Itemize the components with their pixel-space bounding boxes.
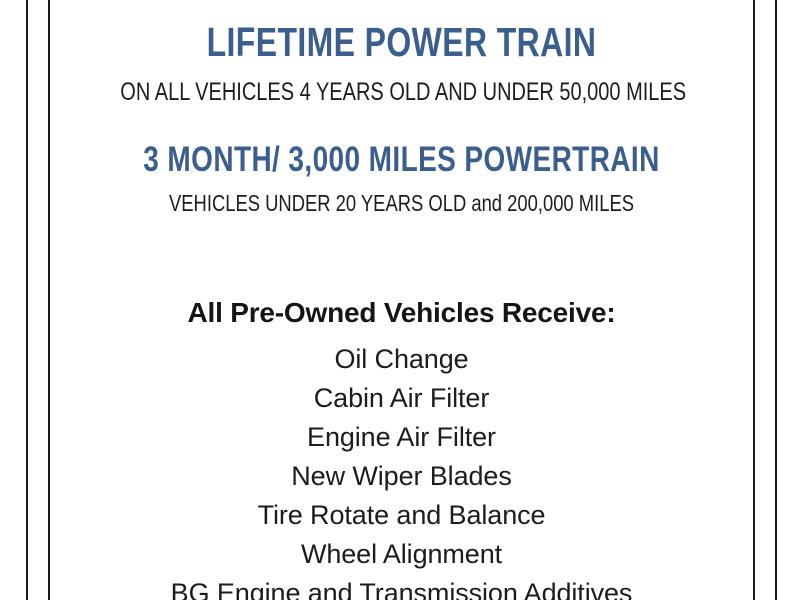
border-rule-right-outer	[775, 0, 777, 600]
service-item: Engine Air Filter	[50, 418, 753, 457]
service-item: Oil Change	[50, 340, 753, 379]
promo-title-lifetime-powertrain: LIFETIME POWER TRAIN	[127, 22, 675, 63]
border-rule-left-outer	[26, 0, 28, 600]
services-section: All Pre-Owned Vehicles Receive: Oil Chan…	[50, 299, 753, 600]
flyer-content: LIFETIME POWER TRAIN ON ALL VEHICLES 4 Y…	[50, 0, 753, 600]
service-item: Tire Rotate and Balance	[50, 496, 753, 535]
services-heading: All Pre-Owned Vehicles Receive:	[50, 299, 753, 327]
service-item: Wheel Alignment	[50, 535, 753, 574]
promo-subtitle-lifetime-powertrain: ON ALL VEHICLES 4 YEARS OLD AND UNDER 50…	[120, 80, 682, 105]
promo-title-3month-powertrain: 3 MONTH/ 3,000 MILES POWERTRAIN	[120, 142, 682, 177]
promo-subtitle-3month-powertrain: VEHICLES UNDER 20 YEARS OLD and 200,000 …	[120, 192, 682, 215]
flyer-page: LIFETIME POWER TRAIN ON ALL VEHICLES 4 Y…	[0, 0, 800, 600]
service-item: BG Engine and Transmission Additives	[50, 574, 753, 600]
services-list: Oil Change Cabin Air Filter Engine Air F…	[50, 340, 753, 600]
service-item: New Wiper Blades	[50, 457, 753, 496]
service-item: Cabin Air Filter	[50, 379, 753, 418]
border-rule-right-inner	[753, 0, 755, 600]
